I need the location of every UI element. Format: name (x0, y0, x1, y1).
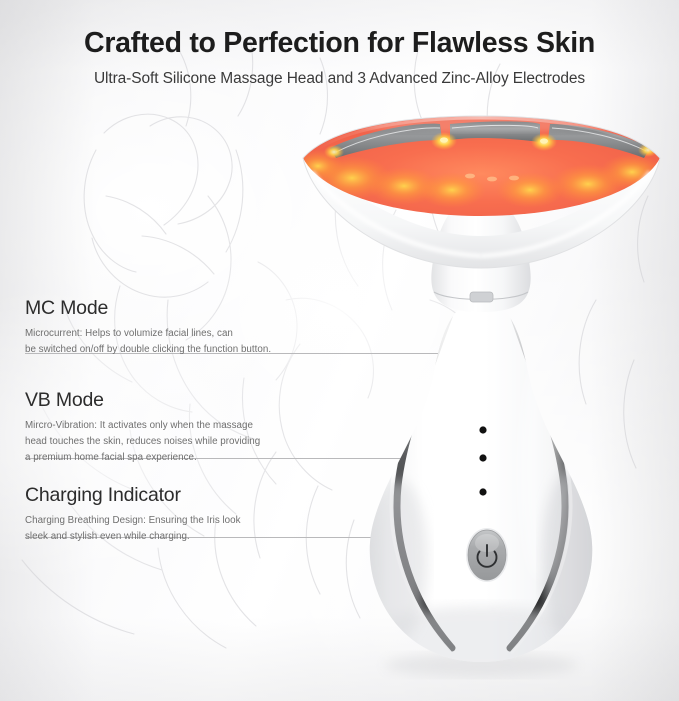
callout-charging-title: Charging Indicator (25, 485, 241, 506)
led-glow-3 (418, 172, 486, 208)
callout-vb-title: VB Mode (25, 390, 260, 411)
callout-vb-line-1: Mircro-Vibration: It activates only when… (25, 418, 260, 434)
callout-mc-line-1: Microcurrent: Helps to volumize facial l… (25, 326, 271, 342)
callout-charging-line-2: sleek and stylish even while charging. (25, 529, 241, 545)
callout-vb-line-2: head touches the skin, reduces noises wh… (25, 434, 260, 450)
callout-mc-mode: MC Mode Microcurrent: Helps to volumize … (25, 298, 271, 358)
led-point-core-left (440, 137, 448, 142)
indicator-dot-charging (479, 488, 486, 495)
indicator-dot-mc (479, 426, 486, 433)
callout-charging-line-1: Charging Breathing Design: Ensuring the … (25, 513, 241, 529)
indicator-dot-vb (479, 454, 486, 461)
callout-mc-title: MC Mode (25, 298, 271, 319)
body-sheen-left (416, 310, 468, 550)
callout-charging-indicator: Charging Indicator Charging Breathing De… (25, 485, 241, 545)
body-edge-shade-left (368, 480, 428, 640)
callout-charging-description: Charging Breathing Design: Ensuring the … (25, 513, 241, 545)
callout-mc-description: Microcurrent: Helps to volumize facial l… (25, 326, 271, 358)
led-point-core-right (540, 138, 548, 143)
led-point-tip-left (324, 145, 344, 159)
head-top-gloss (331, 112, 631, 132)
body-edge-shade-right (542, 470, 602, 642)
callout-vb-mode: VB Mode Mircro-Vibration: It activates o… (25, 390, 260, 466)
product-marketing-image: Crafted to Perfection for Flawless Skin … (0, 0, 679, 701)
callout-vb-description: Mircro-Vibration: It activates only when… (25, 418, 260, 466)
callout-vb-line-3: a premium home facial spa experience. (25, 450, 260, 466)
neck-connector (470, 292, 493, 302)
callout-mc-line-2: be switched on/off by double clicking th… (25, 342, 271, 358)
